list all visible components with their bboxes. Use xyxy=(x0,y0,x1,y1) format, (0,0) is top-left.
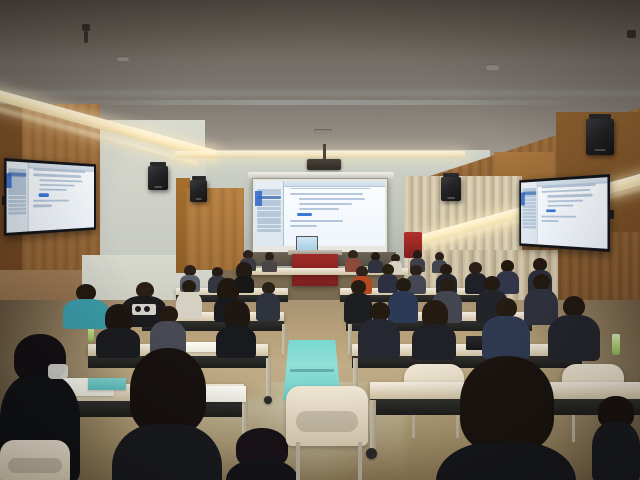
app-sidebar-accent xyxy=(521,192,525,206)
app-sidebar xyxy=(521,182,538,245)
attendee-body xyxy=(216,326,256,358)
desk-caster xyxy=(264,396,272,404)
left-wall-display[interactable] xyxy=(4,158,96,236)
attendee-body xyxy=(436,442,576,480)
aisle-banner-text xyxy=(290,369,334,372)
content-line xyxy=(40,189,67,191)
attendee xyxy=(216,300,256,356)
desk-leg xyxy=(282,324,286,354)
ceiling-fitting-icon xyxy=(117,56,129,61)
ceiling-fitting-icon xyxy=(486,64,499,70)
room-photo: Conference Training Room Corporate train… xyxy=(0,0,640,480)
content-line xyxy=(299,208,339,210)
ceiling-seam xyxy=(0,88,640,98)
attendee xyxy=(262,252,277,271)
attendee-hair xyxy=(130,348,206,434)
content-line xyxy=(547,199,583,202)
content-button xyxy=(546,209,556,212)
left-wall-display-screen xyxy=(7,161,95,233)
attendee-body xyxy=(482,316,530,359)
ceiling-fitting-icon xyxy=(314,129,332,134)
attendee-body xyxy=(262,260,277,272)
sprinkler-icon xyxy=(627,30,636,38)
attendee xyxy=(482,298,530,358)
sidebar-list-item xyxy=(257,221,281,224)
attendee-head xyxy=(351,280,366,294)
app-content-pane xyxy=(28,163,94,232)
projector-icon xyxy=(307,159,341,170)
sprinkler-icon xyxy=(84,31,88,43)
attendee-head xyxy=(496,298,517,318)
attendee xyxy=(548,296,600,360)
content-line xyxy=(33,174,81,178)
attendee-body xyxy=(358,319,400,359)
right-wall-display[interactable] xyxy=(519,174,610,252)
sprinkler-icon xyxy=(82,24,90,31)
attendee-foreground xyxy=(112,348,222,480)
right-display-app-window xyxy=(521,177,607,249)
projection-screen xyxy=(252,178,388,254)
speaker-icon xyxy=(148,166,168,190)
speaker-icon xyxy=(441,177,461,201)
app-sidebar xyxy=(255,181,284,246)
attendee-foreground xyxy=(592,396,640,480)
content-line xyxy=(547,194,592,198)
attendee-head xyxy=(484,276,500,291)
content-line xyxy=(40,184,75,187)
presenter-laptop[interactable] xyxy=(296,236,318,251)
sidebar-list-item xyxy=(257,207,281,210)
face-mask-icon xyxy=(48,364,68,379)
chair-leg xyxy=(358,442,362,480)
presentation-app-window xyxy=(255,181,385,246)
chair[interactable] xyxy=(286,386,368,446)
chair[interactable] xyxy=(0,440,70,480)
content-button xyxy=(38,193,48,196)
app-content-pane xyxy=(538,177,608,249)
attendee-foreground xyxy=(436,356,576,480)
content-line xyxy=(290,225,317,227)
sidebar-list-item xyxy=(257,211,281,214)
cove-light-strip xyxy=(175,151,465,158)
attendee-body xyxy=(412,324,456,360)
content-line xyxy=(299,198,365,200)
content-button xyxy=(297,213,312,216)
sidebar-list-item xyxy=(8,211,27,215)
attendee-head xyxy=(533,274,550,290)
attendee xyxy=(256,282,280,320)
attendee xyxy=(358,302,400,358)
water-bottle[interactable] xyxy=(612,334,620,355)
content-line xyxy=(290,188,370,190)
attendee xyxy=(412,300,456,358)
content-line xyxy=(299,203,352,205)
content-line xyxy=(33,205,52,207)
content-line xyxy=(547,204,573,206)
content-line xyxy=(40,179,83,182)
desk-caster xyxy=(366,448,377,459)
attendee-body xyxy=(592,422,640,480)
sidebar-list-item xyxy=(8,192,27,195)
speaker-icon xyxy=(190,180,207,202)
sidebar-list-item xyxy=(257,229,281,232)
app-sidebar-accent xyxy=(7,173,12,189)
attendee-head xyxy=(563,296,585,317)
sidebar-list-item xyxy=(522,226,536,229)
attendee-body xyxy=(548,315,600,361)
right-wall-display-screen xyxy=(521,177,607,249)
attendee-body xyxy=(112,424,222,480)
attendee-head xyxy=(396,278,411,292)
app-sidebar xyxy=(7,161,29,233)
ceiling-seam-secondary xyxy=(60,100,580,105)
sidebar-list-item xyxy=(257,214,281,217)
content-line xyxy=(290,193,362,195)
content-line xyxy=(542,215,577,217)
attendee-body xyxy=(226,460,298,480)
attendee-head xyxy=(440,278,455,292)
app-toolbar xyxy=(284,181,385,187)
app-sidebar-accent xyxy=(255,191,262,205)
desk-leg xyxy=(266,358,271,398)
content-line xyxy=(542,220,559,222)
attendee-hair xyxy=(460,356,554,452)
content-line xyxy=(33,200,69,202)
sidebar-list-item xyxy=(257,225,281,228)
speaker-icon xyxy=(586,119,614,155)
content-line xyxy=(542,189,591,193)
desk-leg xyxy=(370,400,376,452)
sidebar-list-item xyxy=(257,218,281,221)
chair-leg xyxy=(296,442,300,480)
projection-screen-surface xyxy=(255,181,385,246)
sidebar-list-item xyxy=(8,196,27,199)
left-display-app-window xyxy=(7,161,95,233)
attendee-body xyxy=(256,293,280,321)
content-line xyxy=(290,220,343,222)
